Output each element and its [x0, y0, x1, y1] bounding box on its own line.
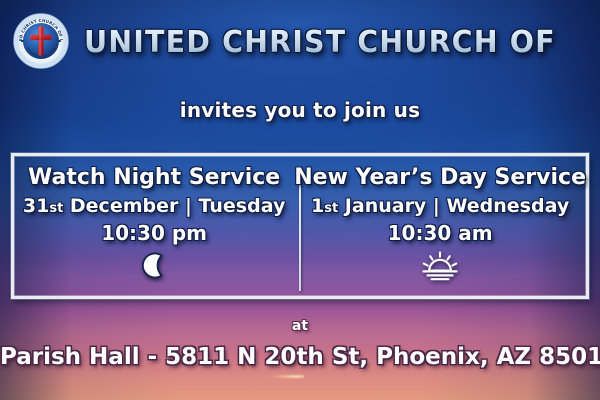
- service-date: 1st January | Wednesday: [311, 195, 569, 217]
- service-time: 10:30 am: [388, 221, 493, 245]
- service-date-rest: January | Wednesday: [338, 195, 569, 217]
- sunrise-icon: [419, 249, 461, 283]
- service-date-rest: December | Tuesday: [63, 195, 285, 217]
- service-day-number: 31: [23, 195, 49, 217]
- event-flyer: UNITED CHRIST CHURCH OF INDIA PHOENIX, A…: [0, 0, 600, 400]
- page-title: UNITED CHRIST CHURCH OF INDIA: [84, 19, 559, 67]
- service-day-ordinal: st: [324, 201, 338, 216]
- service-time: 10:30 pm: [101, 221, 207, 245]
- invitation-subtitle: invites you to join us: [0, 98, 600, 122]
- church-cross-emblem-icon: UNITED CHRIST CHURCH OF INDIA PHOENIX, A…: [13, 13, 69, 69]
- services-frame: Watch Night Service 31st December | Tues…: [11, 153, 589, 299]
- venue-address: Parish Hall - 5811 N 20th St, Phoenix, A…: [0, 344, 600, 370]
- service-day-number: 1: [311, 195, 324, 217]
- header: UNITED CHRIST CHURCH OF INDIA PHOENIX, A…: [0, 0, 600, 86]
- service-card-watch-night: Watch Night Service 31st December | Tues…: [14, 156, 294, 296]
- service-date: 31st December | Tuesday: [23, 195, 285, 217]
- service-day-ordinal: st: [49, 201, 63, 216]
- service-card-new-years-day: New Year’s Day Service 1st January | Wed…: [294, 156, 586, 296]
- service-name: New Year’s Day Service: [294, 165, 586, 190]
- church-logo: UNITED CHRIST CHURCH OF INDIA PHOENIX, A…: [13, 13, 69, 69]
- service-name: Watch Night Service: [28, 165, 280, 190]
- venue-at-label: at: [0, 318, 600, 334]
- sun-flare-glow: [268, 374, 304, 379]
- crescent-moon-icon: [140, 249, 168, 283]
